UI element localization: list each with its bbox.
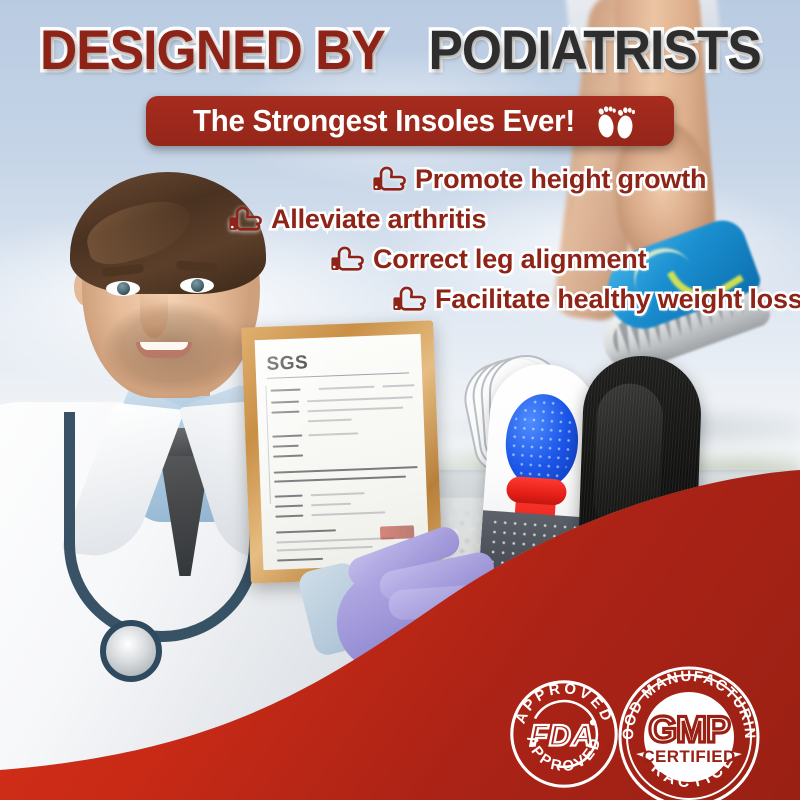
subtitle-banner: The Strongest Insoles Ever! (146, 96, 674, 146)
certificate-text-line (273, 454, 303, 457)
pointing-hand-icon (372, 165, 406, 195)
headline-part-one: DESIGNED BY (40, 22, 385, 78)
certificate-text-line (271, 389, 301, 392)
stethoscope-chestpiece (100, 620, 162, 682)
fda-center-text: FDA (530, 720, 594, 753)
certificate-text-line (307, 396, 413, 402)
stethoscope-tubing (64, 412, 260, 642)
advertisement-banner: SGS (0, 0, 800, 800)
headline: DESIGNED BY PODIATRISTS (0, 22, 800, 78)
gmp-certified-seal: GOOD MANUFACTURING PRACTICE GMP CERTIFIE… (614, 662, 764, 800)
insole-heel-gel-pad (503, 392, 581, 491)
benefit-item-1: Alleviate arthritis (228, 204, 486, 235)
certificate-text-line (273, 445, 299, 448)
benefit-text: Alleviate arthritis (271, 204, 486, 235)
benefit-item-3: Facilitate healthy weight loss (392, 284, 800, 315)
doctor-mouth (136, 342, 192, 358)
certificate-text-line (311, 492, 365, 496)
certificate-text-line (271, 411, 299, 414)
headline-part-two: PODIATRISTS (428, 22, 760, 78)
sgs-logo: SGS (266, 352, 308, 376)
certificate-text-line (311, 511, 385, 516)
gmp-subtitle-text: CERTIFIED (642, 747, 735, 766)
certificate-text-line (311, 503, 351, 507)
fda-approved-seal: APPROVED APPROVED FDA (506, 676, 622, 792)
pointing-hand-icon (330, 245, 364, 275)
certificate-text-line (308, 432, 358, 436)
benefits-list: Promote height growth Alleviate arthriti… (0, 160, 800, 320)
certificate-text-line (319, 386, 375, 390)
certificate-text-line (308, 419, 352, 423)
certificate-margin-line (265, 386, 271, 504)
benefit-item-2: Correct leg alignment (330, 244, 646, 275)
certificate-text-line (274, 476, 406, 483)
pointing-hand-icon (228, 205, 262, 235)
certificate-text-line (275, 495, 303, 498)
gmp-center-text: GMP (648, 709, 730, 750)
benefit-text: Facilitate healthy weight loss (435, 284, 800, 315)
certificate-text-line (382, 384, 414, 387)
certificate-text-line (272, 435, 302, 438)
certificate-text-line (275, 515, 303, 518)
certificate-text-line (271, 401, 299, 404)
certificate-text-line (277, 558, 323, 562)
subtitle-text: The Strongest Insoles Ever! (193, 103, 575, 139)
benefit-text: Correct leg alignment (373, 244, 646, 275)
pointing-hand-icon (392, 285, 426, 315)
benefit-text: Promote height growth (415, 164, 706, 195)
certificate-text-line (275, 505, 303, 508)
certificate-text-line (274, 466, 418, 474)
certificate-text-line (307, 407, 403, 413)
footprints-icon (595, 101, 637, 141)
benefit-item-0: Promote height growth (372, 164, 706, 195)
